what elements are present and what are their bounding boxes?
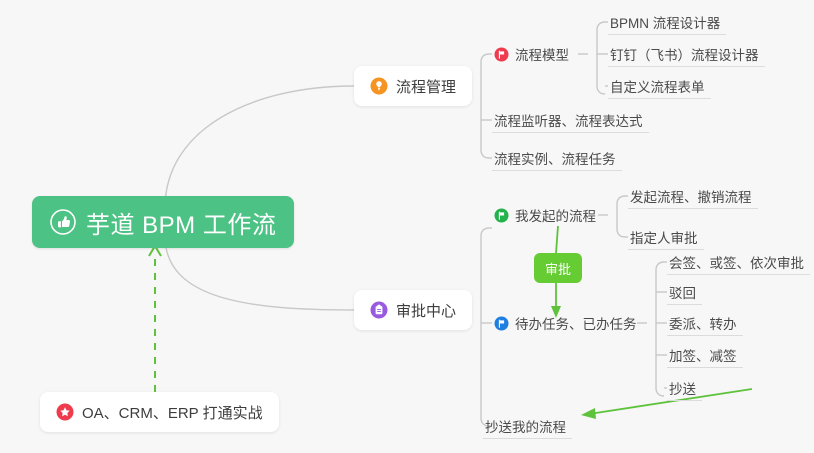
node-label: 我发起的流程 (515, 205, 596, 225)
node-delegate-transfer[interactable]: 委派、转办 (667, 310, 743, 336)
branch-approval-center[interactable]: 审批中心 (354, 290, 472, 330)
node-todo-done-tasks[interactable]: 待办任务、已办任务 (492, 310, 643, 336)
flow-arrow-started-to-badge (556, 226, 558, 253)
node-label: 自定义流程表单 (610, 76, 705, 96)
flag-icon (494, 47, 509, 62)
node-label: 发起流程、撤销流程 (630, 186, 752, 206)
node-cc[interactable]: 抄送 (667, 375, 702, 401)
node-label: 驳回 (669, 282, 696, 302)
node-label: 委派、转办 (669, 313, 737, 333)
node-process-model[interactable]: 流程模型 (492, 41, 575, 67)
link-model-trunk-cap-bot (597, 86, 605, 94)
node-my-started-process[interactable]: 我发起的流程 (492, 202, 602, 228)
link-pm-trunk-cap-bot (481, 150, 489, 158)
link-started-cap-bot (617, 229, 625, 237)
node-custom-form[interactable]: 自定义流程表单 (608, 73, 711, 99)
link-todo-cap-top (656, 262, 664, 270)
node-start-cancel-process[interactable]: 发起流程、撤销流程 (628, 183, 758, 209)
node-assignee-approval[interactable]: 指定人审批 (628, 224, 704, 250)
branch-label: 审批中心 (396, 300, 456, 321)
node-listener-expression[interactable]: 流程监听器、流程表达式 (492, 107, 649, 133)
root-node[interactable]: 芋道 BPM 工作流 (32, 196, 294, 248)
flag-icon (494, 316, 509, 331)
mindmap-canvas: 芋道 BPM 工作流 流程管理 流程模型 BPMN 流程设计器 钉钉（飞书）流程 (0, 0, 814, 453)
link-model-trunk-cap-top (597, 22, 605, 30)
node-add-remove-sign[interactable]: 加签、减签 (667, 342, 743, 368)
node-label: 钉钉（飞书）流程设计器 (610, 44, 759, 64)
lightbulb-pin-icon (370, 77, 388, 95)
link-started-cap-top (617, 196, 625, 204)
star-icon (56, 403, 74, 421)
clipboard-icon (370, 301, 388, 319)
thumbs-up-icon (50, 209, 76, 235)
branch-process-management[interactable]: 流程管理 (354, 66, 472, 106)
node-label: 会签、或签、依次审批 (669, 252, 804, 272)
approval-badge[interactable]: 审批 (534, 253, 582, 283)
node-label: 加签、减签 (669, 345, 737, 365)
footnote-node[interactable]: OA、CRM、ERP 打通实战 (40, 392, 279, 432)
approval-badge-label: 审批 (545, 259, 571, 278)
node-countersign[interactable]: 会签、或签、依次审批 (667, 249, 810, 275)
node-label: 流程监听器、流程表达式 (494, 110, 643, 130)
node-label: 流程实例、流程任务 (494, 148, 616, 168)
node-bpmn-designer[interactable]: BPMN 流程设计器 (608, 9, 726, 35)
node-label: 流程模型 (515, 44, 569, 64)
link-ac-trunk-cap-top (481, 228, 489, 236)
branch-label: 流程管理 (396, 76, 456, 97)
node-label: 指定人审批 (630, 227, 698, 247)
footnote-label: OA、CRM、ERP 打通实战 (82, 402, 263, 423)
link-todo-cap-bot (656, 388, 664, 396)
flag-icon (494, 208, 509, 223)
node-label: 待办任务、已办任务 (515, 313, 637, 333)
link-pm-trunk-cap-top (481, 54, 489, 62)
node-instance-task[interactable]: 流程实例、流程任务 (492, 145, 622, 171)
node-reject[interactable]: 驳回 (667, 279, 702, 305)
link-root-to-process-management (165, 86, 354, 208)
node-label: 抄送我的流程 (485, 416, 566, 436)
flow-arrowhead-ccmine (581, 408, 596, 419)
node-label: BPMN 流程设计器 (610, 12, 720, 32)
node-dingtalk-feishu-designer[interactable]: 钉钉（飞书）流程设计器 (608, 41, 765, 67)
node-cc-to-me-process[interactable]: 抄送我的流程 (483, 413, 572, 439)
node-label: 抄送 (669, 378, 696, 398)
root-label: 芋道 BPM 工作流 (86, 205, 276, 240)
